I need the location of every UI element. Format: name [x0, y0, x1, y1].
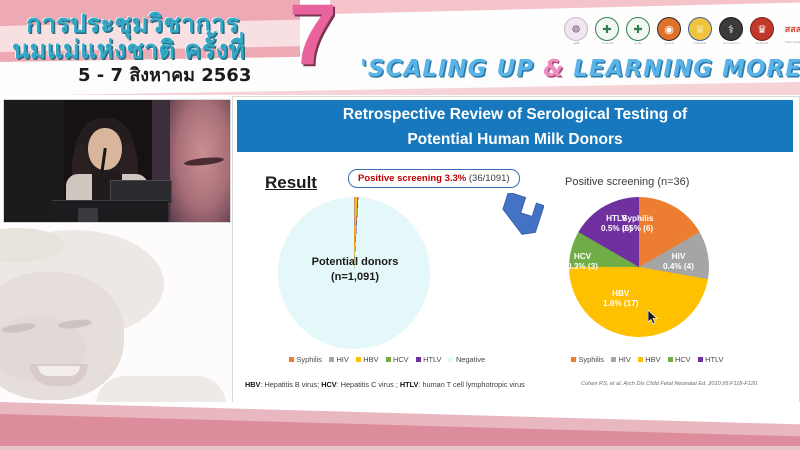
slide-footnote: HBV: Hepatitis B virus; HCV: Hepatitis C…	[245, 380, 525, 389]
footer-band-edge	[0, 446, 800, 450]
presentation-screen: การประชุมวิชาการ นมแม่แห่งชาติ ครั้งที่ …	[0, 0, 800, 450]
callout-percentage: Positive screening 3.3%	[358, 173, 466, 184]
podium	[52, 200, 168, 223]
slice-value: 0.5% (6)	[601, 224, 632, 234]
logo-university-icon: ♛	[750, 17, 774, 41]
logo-thai-pediatric-society-icon: ◉	[657, 17, 681, 41]
legend-swatch-hiv	[611, 357, 616, 362]
down-right-arrow-icon	[498, 193, 544, 237]
legend-item-hiv: HIV	[329, 355, 349, 364]
pie-left-title: Potential donors	[293, 255, 417, 270]
slice-value: 0.3% (3)	[567, 262, 598, 272]
footnote-hcv-val: : Hepatitis C virus ;	[337, 380, 400, 389]
legend-label: HCV	[675, 355, 691, 364]
logo-thaihealth-sss-icon: สสส	[782, 18, 800, 40]
tagline-ampersand: &	[543, 56, 564, 82]
logo-ministry-public-health-1: ✚ กรมอนามัย	[594, 17, 620, 46]
footnote-hbv-val: : Hepatitis B virus;	[260, 380, 321, 389]
footnote-hbv-key: HBV	[245, 380, 260, 389]
slide-citation: Cohen RS, et al. Arch Dis Child Fetal Ne…	[581, 381, 759, 387]
logo-ministry-public-health-2-icon: ✚	[626, 17, 650, 41]
footer-band	[0, 402, 800, 450]
conference-edition-number: 7	[289, 0, 337, 78]
logo-ministry-public-health-1-icon: ✚	[595, 17, 619, 41]
logo-thai-pediatric-society: ◉ กุมารเวช	[656, 17, 682, 46]
slice-label-hiv: HIV 0.4% (4)	[663, 252, 694, 272]
logo-caption: สธาบัน	[634, 42, 641, 46]
sponsor-logo-strip: ☸ มูลนิธิ ✚ กรมอนามัย ✚ สธาบัน ◉ กุมารเว…	[563, 17, 800, 46]
logo-university: ♛ มหาวิทยาลัย	[749, 17, 775, 46]
legend-swatch-syphilis	[289, 357, 294, 362]
legend-item-htlv: HTLV	[698, 355, 724, 364]
legend-item-hcv: HCV	[668, 355, 691, 364]
logo-nurses-council: ⚕ สภาการพยาบาล	[718, 17, 744, 46]
conference-tagline: 'SCALING UP & LEARNING MORE'	[360, 56, 800, 82]
legend-item-hiv: HIV	[611, 355, 631, 364]
logo-royal-college: ♕ ราชวิทยาลัย	[687, 17, 713, 46]
slice-label-hbv: HBV 1.6% (17)	[603, 289, 639, 309]
legend-left: Syphilis HIV HBV HCV HTLV Negative	[289, 355, 485, 364]
logo-thaihealth-sss: สสส สำนักงานกองทุน	[780, 18, 800, 45]
legend-label: HTLV	[705, 355, 723, 364]
legend-label: HTLV	[423, 355, 441, 364]
slice-name: HCV	[567, 252, 598, 262]
legend-item-syphilis: Syphilis	[571, 355, 604, 364]
footnote-htlv-key: HTLV	[400, 380, 419, 389]
legend-label: HIV	[618, 355, 630, 364]
footnote-htlv-val: : human T cell lymphotropic virus	[418, 380, 524, 389]
pie-right-title: Positive screening (n=36)	[565, 176, 689, 188]
legend-swatch-hiv	[329, 357, 334, 362]
logo-royal-emblem: ☸ มูลนิธิ	[563, 17, 589, 46]
tagline-suffix: LEARNING MORE'	[564, 56, 800, 82]
legend-label: Negative	[456, 355, 485, 364]
slice-name: HIV	[663, 252, 694, 262]
result-label: Result	[265, 173, 317, 193]
legend-item-negative: Negative	[448, 355, 485, 364]
slice-name: HTLV	[601, 214, 632, 224]
legend-label: HCV	[393, 355, 409, 364]
logo-royal-emblem-icon: ☸	[564, 17, 588, 41]
conference-date-thai: 5 - 7 สิงหาคม 2563	[78, 60, 251, 89]
positive-screening-callout: Positive screening 3.3% (36/1091)	[348, 169, 520, 188]
logo-caption: ราชวิทยาลัย	[694, 42, 706, 46]
legend-label: HIV	[336, 355, 348, 364]
mouse-cursor-icon	[648, 310, 659, 325]
logo-ministry-public-health-2: ✚ สธาบัน	[625, 17, 651, 46]
legend-item-syphilis: Syphilis	[289, 355, 322, 364]
legend-label: Syphilis	[579, 355, 604, 364]
legend-swatch-htlv	[698, 357, 703, 362]
speaker-video[interactable]	[3, 99, 231, 223]
legend-label: Syphilis	[297, 355, 322, 364]
legend-item-htlv: HTLV	[416, 355, 442, 364]
legend-label: HBV	[645, 355, 660, 364]
footnote-hcv-key: HCV	[321, 380, 336, 389]
legend-swatch-negative	[448, 357, 453, 362]
presentation-slide: Retrospective Review of Serological Test…	[232, 96, 800, 404]
legend-item-hbv: HBV	[638, 355, 661, 364]
logo-caption: กุมารเวช	[664, 42, 673, 46]
callout-fraction: (36/1091)	[469, 173, 510, 184]
logo-nurses-council-icon: ⚕	[719, 17, 743, 41]
logo-caption: กรมอนามัย	[601, 42, 612, 46]
tagline-prefix: 'SCALING UP	[360, 56, 543, 82]
slice-label-htlv: HTLV 0.5% (6)	[601, 214, 632, 234]
legend-swatch-hbv	[356, 357, 361, 362]
podium-plate	[78, 208, 98, 222]
logo-royal-college-icon: ♕	[688, 17, 712, 41]
child-teeth	[38, 366, 80, 376]
logo-caption: สำนักงานกองทุน	[785, 41, 800, 45]
legend-right: Syphilis HIV HBV HCV HTLV	[571, 355, 723, 364]
pie-left-subtitle: (n=1,091)	[293, 270, 417, 285]
legend-item-hcv: HCV	[386, 355, 409, 364]
logo-caption: สภาการพยาบาล	[723, 42, 740, 46]
conference-header-banner: การประชุมวิชาการ นมแม่แห่งชาติ ครั้งที่ …	[0, 0, 800, 95]
legend-swatch-hcv	[668, 357, 673, 362]
legend-swatch-hbv	[638, 357, 643, 362]
slide-title-line1: Retrospective Review of Serological Test…	[237, 102, 793, 127]
slide-title-line2: Potential Human Milk Donors	[237, 127, 793, 152]
legend-swatch-syphilis	[571, 357, 576, 362]
slide-title: Retrospective Review of Serological Test…	[237, 100, 793, 152]
legend-label: HBV	[363, 355, 378, 364]
slice-label-hcv: HCV 0.3% (3)	[567, 252, 598, 272]
slice-name: HBV	[603, 289, 639, 299]
pie-left-center-label: Potential donors (n=1,091)	[293, 255, 417, 285]
slice-value: 1.6% (17)	[603, 299, 639, 309]
slice-value: 0.4% (4)	[663, 262, 694, 272]
legend-item-hbv: HBV	[356, 355, 379, 364]
logo-caption: มูลนิธิ	[573, 42, 579, 46]
background-child-photo	[0, 224, 232, 430]
legend-swatch-hcv	[386, 357, 391, 362]
legend-swatch-htlv	[416, 357, 421, 362]
logo-caption: มหาวิทยาลัย	[756, 42, 769, 46]
